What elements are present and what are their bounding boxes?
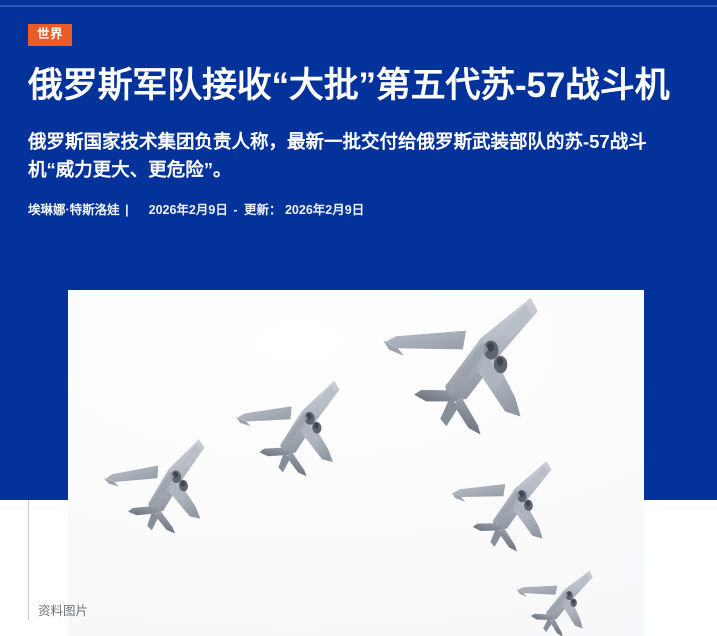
jet-lead-upper-right (364, 290, 556, 447)
jet-center (226, 360, 352, 484)
hero-content: 世界 俄罗斯军队接收“大批”第五代苏-57战斗机 俄罗斯国家技术集团负责人称，最… (28, 0, 688, 218)
column-rule (28, 500, 29, 620)
byline-updated-label: 更新： (244, 203, 282, 217)
byline: 埃琳娜·特斯洛娃 | 2026年2月9日 - 更新： 2026年2月9日 (28, 203, 688, 218)
hero-photo (68, 290, 644, 636)
article-page: 世界 俄罗斯军队接收“大批”第五代苏-57战斗机 俄罗斯国家技术集团负责人称，最… (0, 0, 717, 620)
byline-author[interactable]: 埃琳娜·特斯洛娃 (28, 203, 120, 217)
article-hero-figure (68, 290, 644, 636)
jet-lower-right (506, 549, 602, 636)
article-deck: 俄罗斯国家技术集团负责人称，最新一批交付给俄罗斯武装部队的苏-57战斗机“威力更… (28, 128, 653, 184)
byline-updated-date: 2026年2月9日 (285, 203, 364, 217)
article-headline: 俄罗斯军队接收“大批”第五代苏-57战斗机 (28, 64, 683, 109)
byline-published-date: 2026年2月9日 (149, 203, 228, 217)
aircraft-formation-illustration (68, 290, 644, 636)
section-kicker-badge[interactable]: 世界 (28, 24, 72, 46)
jet-left (95, 422, 216, 540)
byline-dash: - (231, 203, 240, 218)
figure-caption: 资料图片 (38, 604, 88, 619)
jet-right (440, 438, 563, 559)
byline-divider: | (123, 203, 132, 218)
